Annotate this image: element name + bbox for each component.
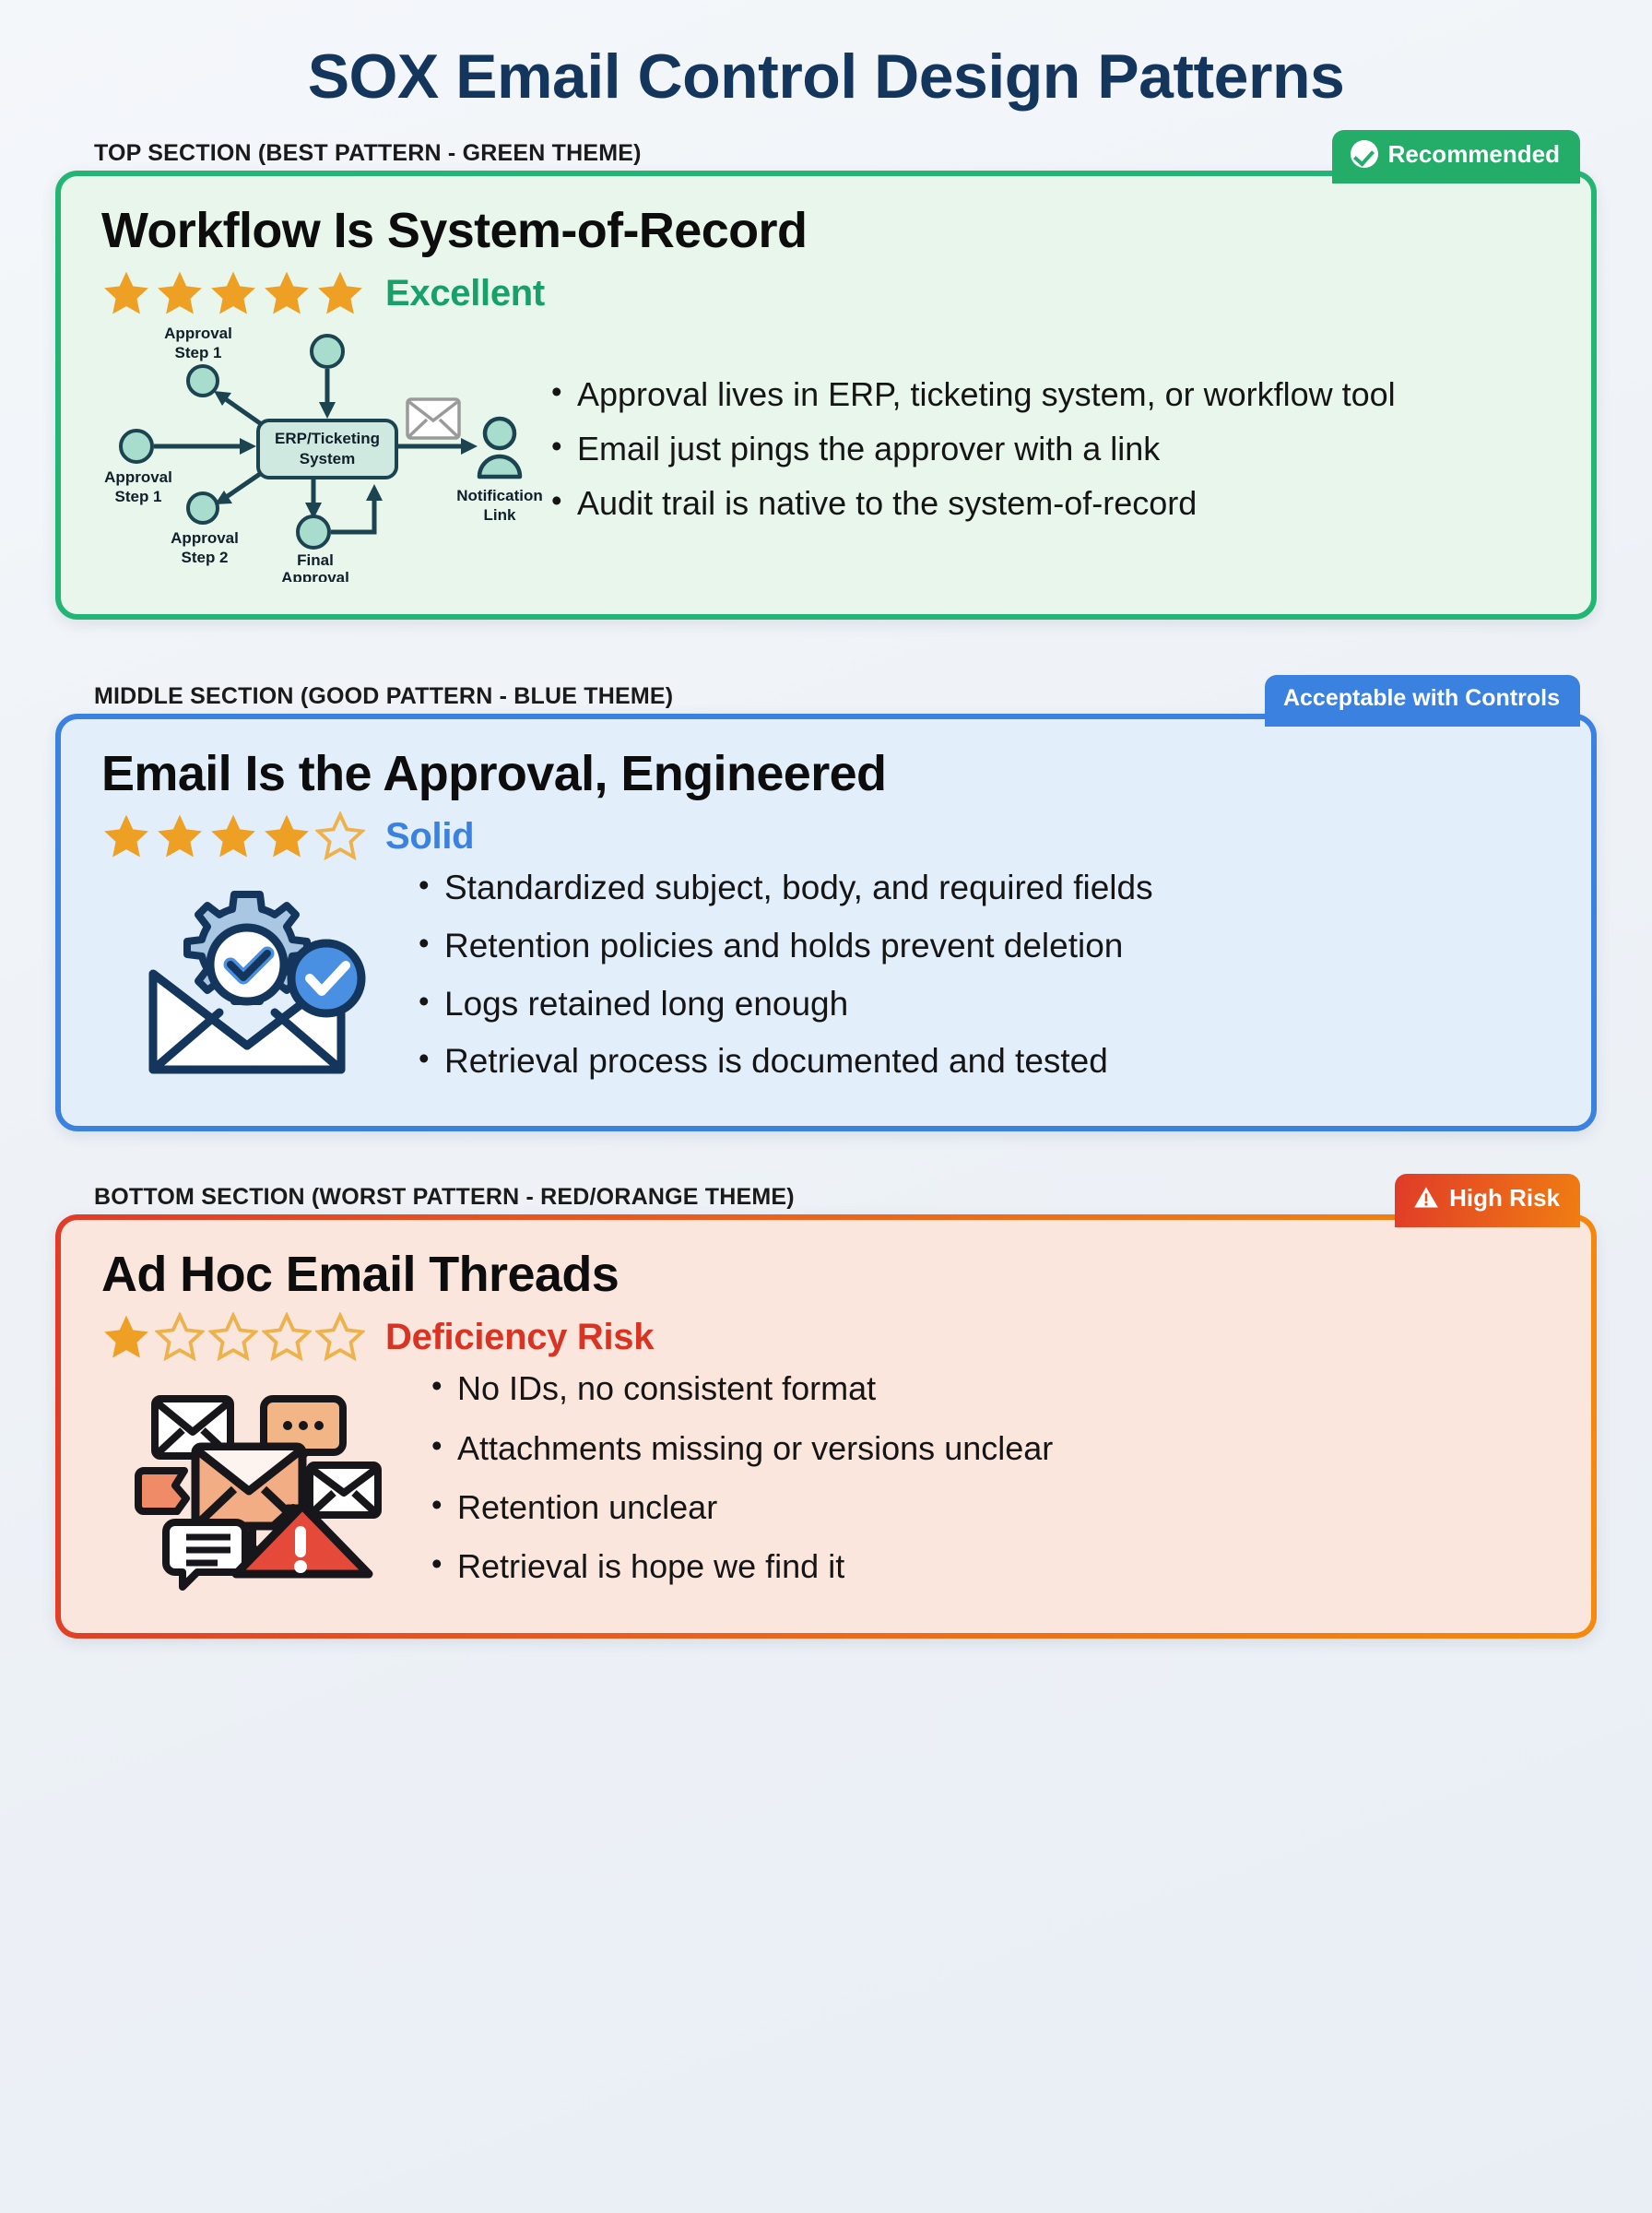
- rating-row-good: Solid: [101, 811, 1556, 861]
- list-item: Approval lives in ERP, ticketing system,…: [551, 373, 1556, 415]
- svg-text:Step 2: Step 2: [181, 549, 228, 566]
- chaotic-email-threads-icon: [114, 1373, 391, 1599]
- rating-word-best: Excellent: [385, 273, 545, 314]
- card-body-good: Standardized subject, body, and required…: [101, 867, 1556, 1097]
- envelope-gear-check-icon: [109, 874, 385, 1091]
- section-label-top: TOP SECTION (BEST PATTERN - GREEN THEME): [55, 140, 642, 171]
- rating-row-best: Excellent: [101, 268, 1556, 318]
- svg-text:Step 1: Step 1: [114, 488, 161, 505]
- card-title-good: Email Is the Approval, Engineered: [101, 747, 1556, 800]
- section-header-bottom: BOTTOM SECTION (WORST PATTERN - RED/ORAN…: [55, 1165, 1597, 1214]
- rating-word-good: Solid: [385, 816, 474, 858]
- card-good-pattern: Email Is the Approval, Engineered Solid: [55, 714, 1597, 1131]
- card-body-worst: No IDs, no consistent format Attachments…: [101, 1367, 1556, 1604]
- section-header-top: TOP SECTION (BEST PATTERN - GREEN THEME)…: [55, 121, 1597, 171]
- check-circle-icon: [1351, 140, 1378, 168]
- envelope-icon: [407, 399, 459, 438]
- card-body-best: ERP/Ticketing System Approval Step 1: [101, 324, 1556, 586]
- badge-label: Acceptable with Controls: [1283, 685, 1560, 712]
- page-title: SOX Email Control Design Patterns: [55, 0, 1597, 121]
- star-rating-worst: [101, 1312, 365, 1362]
- rating-word-worst: Deficiency Risk: [385, 1317, 654, 1358]
- badge-label: Recommended: [1388, 140, 1560, 169]
- section-label-bottom: BOTTOM SECTION (WORST PATTERN - RED/ORAN…: [55, 1184, 795, 1214]
- list-item: Standardized subject, body, and required…: [419, 867, 1556, 910]
- person-icon: [479, 419, 520, 477]
- list-item: Email just pings the approver with a lin…: [551, 428, 1556, 469]
- svg-text:Final: Final: [297, 551, 334, 569]
- bullet-list-worst: No IDs, no consistent format Attachments…: [431, 1367, 1556, 1604]
- warning-triangle-icon: [1413, 1185, 1439, 1211]
- card-best-pattern: Workflow Is System-of-Record Excellent E…: [55, 171, 1597, 620]
- star-rating-good: [101, 811, 365, 861]
- infographic-page: SOX Email Control Design Patterns TOP SE…: [0, 0, 1652, 2213]
- list-item: Retrieval is hope we find it: [431, 1545, 1556, 1587]
- list-item: Retrieval process is documented and test…: [419, 1040, 1556, 1083]
- card-title-worst: Ad Hoc Email Threads: [101, 1248, 1556, 1301]
- svg-text:Approval: Approval: [281, 569, 349, 582]
- card-title-best: Workflow Is System-of-Record: [101, 204, 1556, 257]
- list-item: Attachments missing or versions unclear: [431, 1427, 1556, 1469]
- section-label-middle: MIDDLE SECTION (GOOD PATTERN - BLUE THEM…: [55, 683, 673, 714]
- bullet-list-good: Standardized subject, body, and required…: [419, 867, 1556, 1097]
- svg-text:Approval: Approval: [104, 468, 172, 486]
- badge-label: High Risk: [1449, 1184, 1560, 1213]
- svg-text:Link: Link: [484, 506, 516, 524]
- list-item: Logs retained long enough: [419, 983, 1556, 1026]
- star-rating-best: [101, 268, 365, 318]
- badge-recommended[interactable]: Recommended: [1332, 130, 1580, 183]
- list-item: Retention policies and holds prevent del…: [419, 925, 1556, 968]
- card-worst-pattern: Ad Hoc Email Threads Deficiency Risk: [55, 1214, 1597, 1639]
- badge-high-risk[interactable]: High Risk: [1395, 1174, 1580, 1227]
- svg-text:Approval: Approval: [164, 325, 232, 342]
- section-header-middle: MIDDLE SECTION (GOOD PATTERN - BLUE THEM…: [55, 664, 1597, 714]
- svg-text:Notification: Notification: [456, 487, 543, 504]
- list-item: Retention unclear: [431, 1486, 1556, 1528]
- list-item: Audit trail is native to the system-of-r…: [551, 482, 1556, 524]
- workflow-diagram: ERP/Ticketing System Approval Step 1: [101, 324, 544, 586]
- svg-text:Approval: Approval: [171, 529, 239, 547]
- svg-text:System: System: [300, 450, 355, 467]
- rating-row-worst: Deficiency Risk: [101, 1312, 1556, 1362]
- svg-text:Step 1: Step 1: [174, 344, 221, 361]
- diagram-center-label: ERP/Ticketing: [275, 430, 380, 447]
- bullet-list-best: Approval lives in ERP, ticketing system,…: [551, 373, 1556, 538]
- list-item: No IDs, no consistent format: [431, 1367, 1556, 1409]
- badge-acceptable[interactable]: Acceptable with Controls: [1265, 675, 1580, 727]
